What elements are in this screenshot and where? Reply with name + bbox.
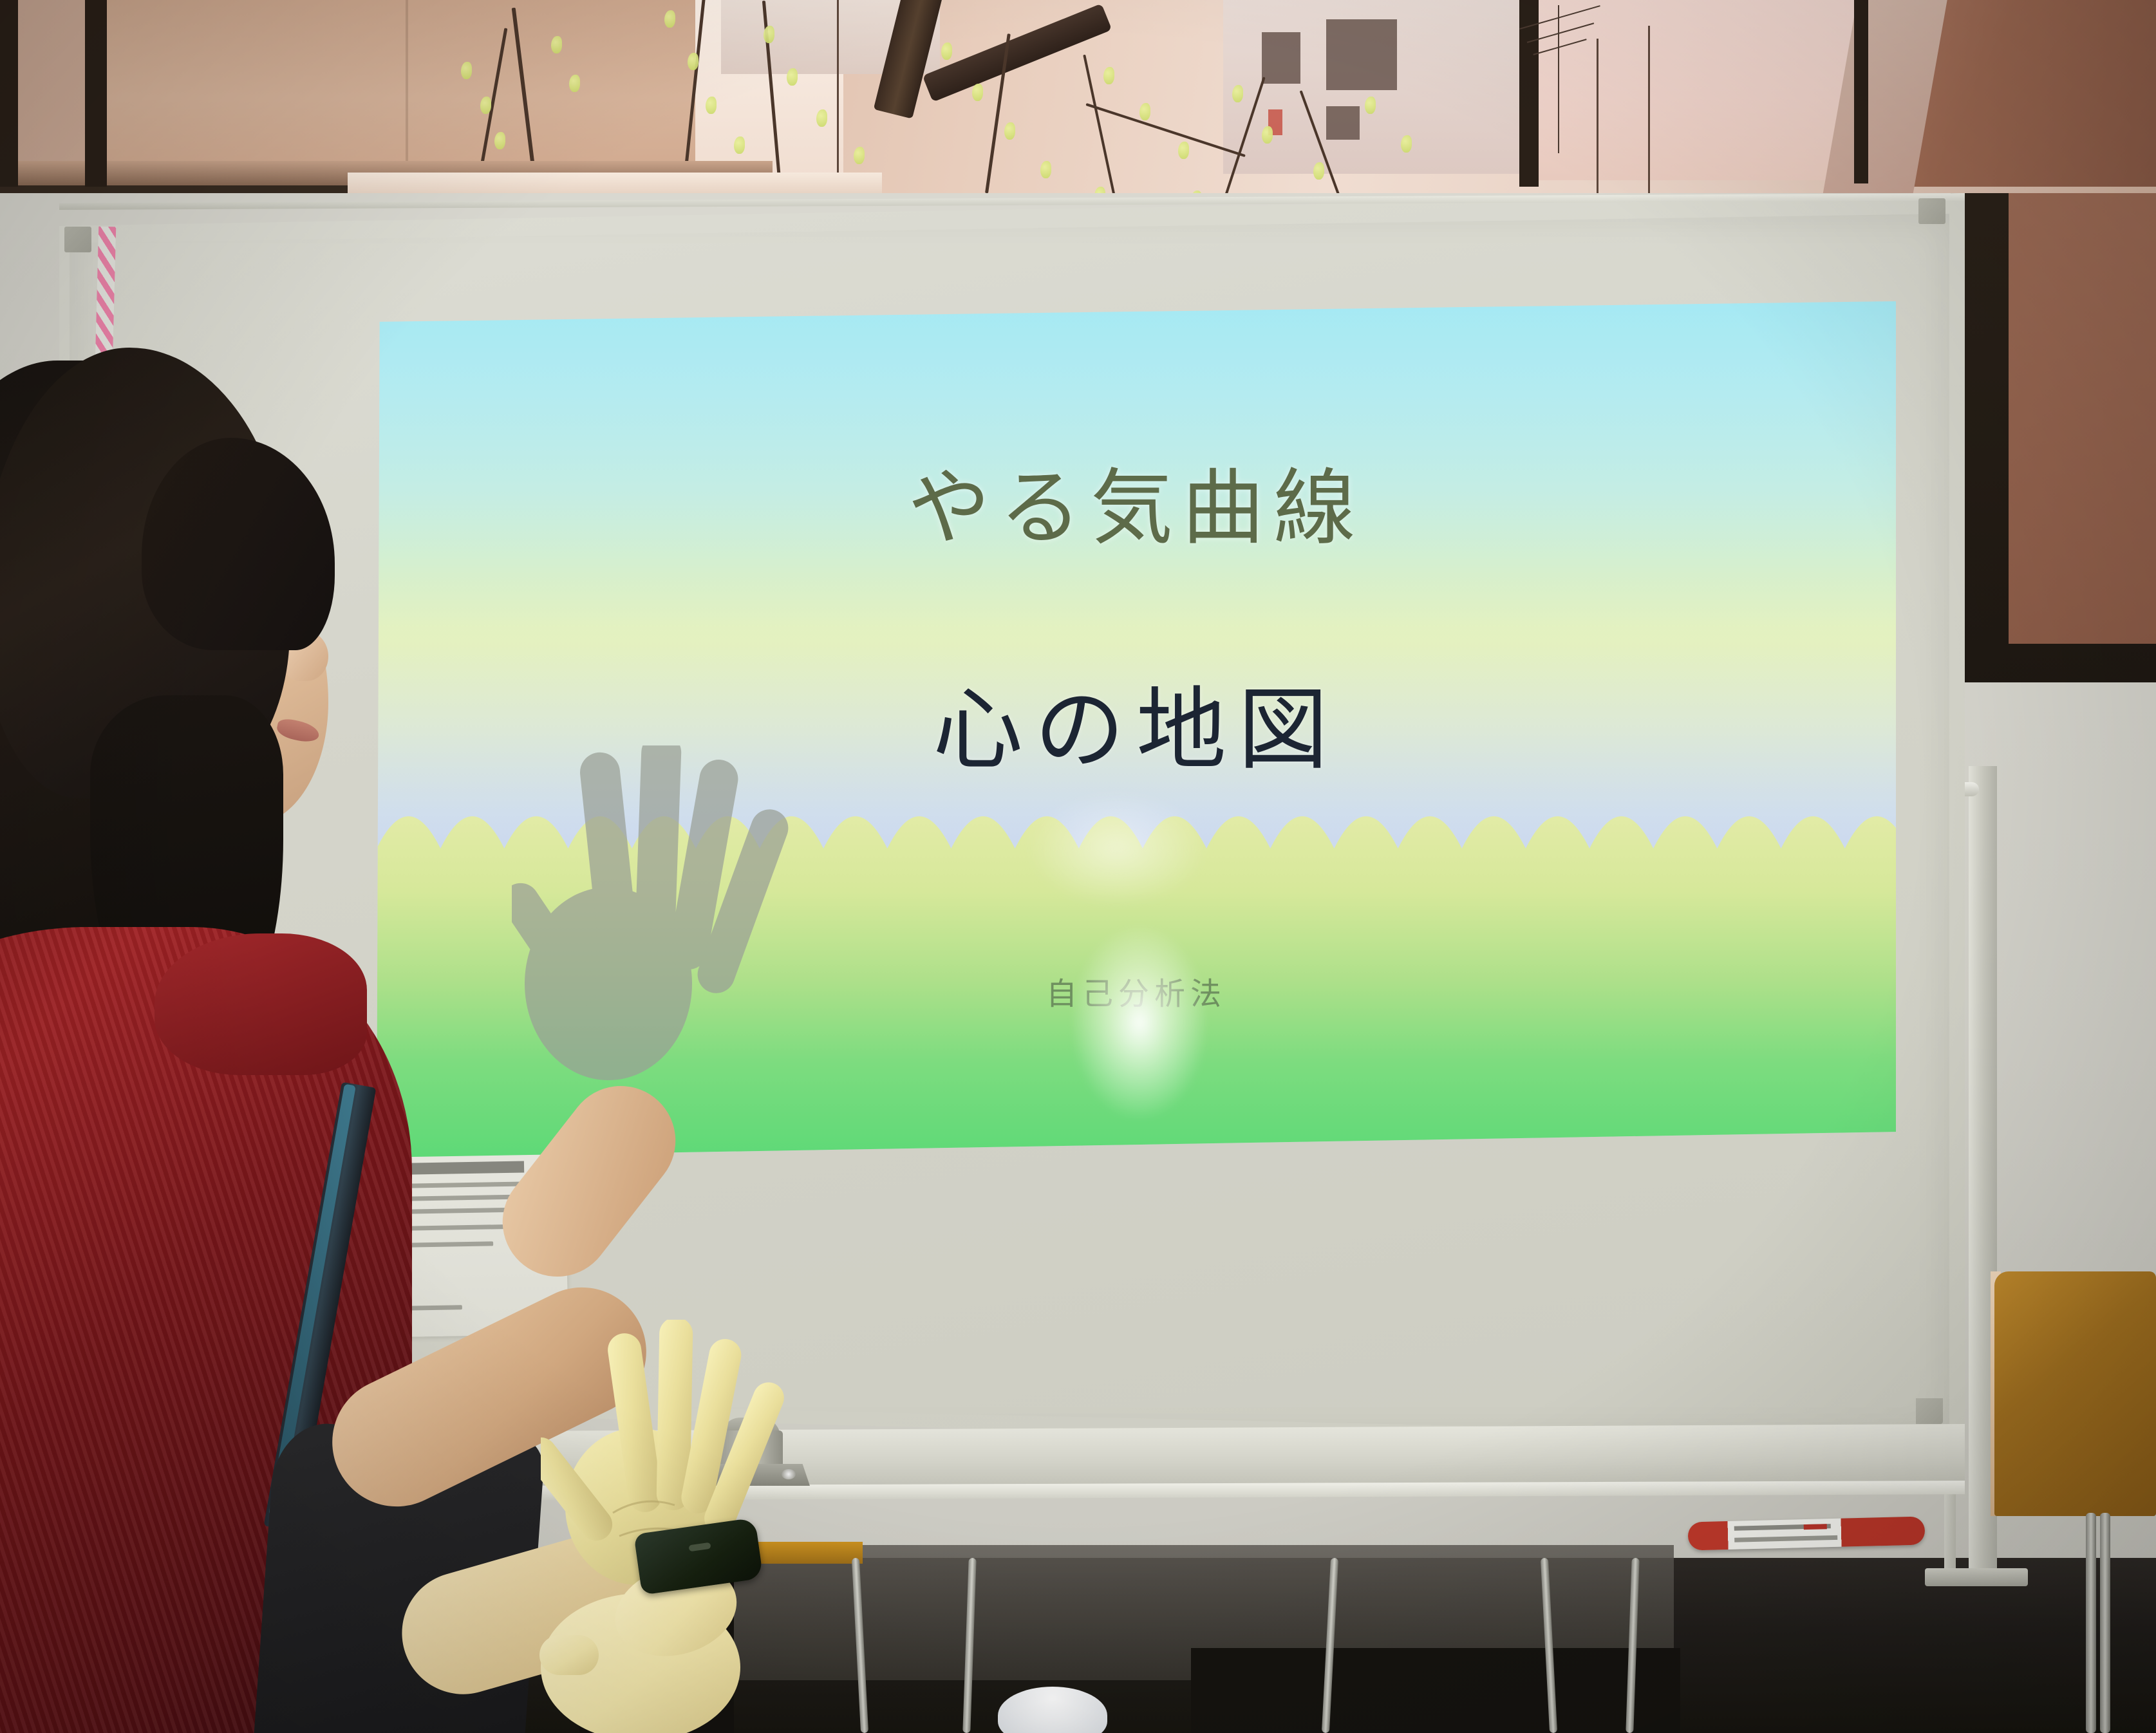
window-view — [0, 0, 2156, 212]
photo-scene: やる気曲線 心の地図 自己分析法 — [0, 0, 2156, 1733]
whiteboard-marker[interactable] — [1688, 1517, 1926, 1551]
projected-slide: やる気曲線 心の地図 自己分析法 — [377, 301, 1896, 1157]
sweater-collar — [155, 933, 367, 1075]
chair-back[interactable] — [1994, 1271, 2156, 1516]
slide-title: やる気曲線 — [377, 464, 1896, 554]
whiteboard-corner — [64, 227, 91, 252]
tree-branch — [682, 0, 706, 187]
tree-trunk — [874, 0, 944, 119]
projector-glare-soft — [1027, 791, 1207, 906]
whiteboard-corner — [1918, 198, 1945, 224]
chair-leg — [2086, 1513, 2096, 1733]
window-mullion — [0, 0, 18, 187]
wall-brick-right — [2009, 193, 2156, 644]
tree-branch — [1223, 77, 1266, 200]
whiteboard-corner — [1916, 1398, 1943, 1424]
presenter — [0, 361, 554, 1733]
tree-branch — [1300, 90, 1342, 200]
tree-branch — [1085, 103, 1246, 157]
floor-shadow — [1191, 1648, 1680, 1733]
hair-fringe — [142, 438, 335, 650]
slide-subtitle: 心の地図 — [377, 681, 1896, 780]
chair-leg — [2100, 1513, 2110, 1733]
whiteboard-stand-foot — [1925, 1568, 2028, 1586]
marker-label-accent — [1804, 1524, 1827, 1530]
marker-label-line — [1734, 1535, 1837, 1542]
slide-footer: 自己分析法 — [377, 977, 1896, 1011]
window-mullion — [85, 0, 107, 187]
